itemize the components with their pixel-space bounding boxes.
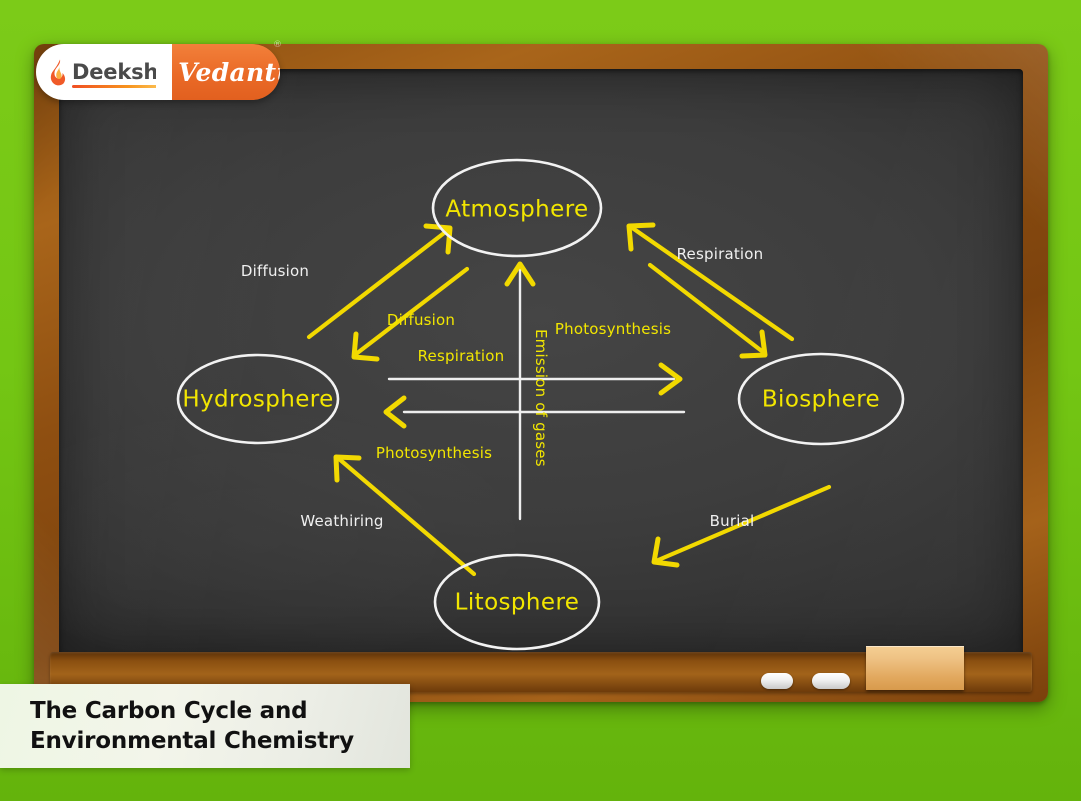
node-label-atmosphere: Atmosphere: [445, 197, 588, 223]
chalkboard-surface: Atmosphere Hydrosphere Biosphere Litosph…: [59, 69, 1023, 656]
edge-label-diffusion-outer: Diffusion: [241, 262, 309, 280]
edge-label-burial: Burial: [710, 512, 755, 530]
deeksha-label: Deeksha: [72, 60, 172, 84]
edge-label-photosynthesis-lower-left: Photosynthesis: [376, 444, 492, 462]
deeksha-wordmark: Deeksha: [72, 62, 172, 83]
screenshot-root: Atmosphere Hydrosphere Biosphere Litosph…: [0, 0, 1081, 801]
edge-label-weathiring: Weathiring: [300, 512, 383, 530]
board-eraser[interactable]: [866, 646, 964, 690]
carbon-cycle-diagram: Atmosphere Hydrosphere Biosphere Litosph…: [59, 69, 1023, 656]
edge-litosphere-to-atmosphere: [507, 264, 533, 519]
registered-mark: ®: [273, 40, 282, 50]
flame-icon: [50, 59, 67, 86]
chalkboard-frame: Atmosphere Hydrosphere Biosphere Litosph…: [34, 44, 1048, 702]
deeksha-underline: [72, 85, 174, 88]
edge-label-photosynthesis-upper-right: Photosynthesis: [555, 320, 671, 338]
edge-label-diffusion-inner: Diffusion: [387, 311, 455, 329]
vedantu-logo: Vedantu: [172, 44, 280, 100]
vedantu-label: Vedantu: [178, 58, 280, 87]
brand-logo[interactable]: Deeksha Vedantu: [36, 44, 280, 100]
node-label-biosphere: Biosphere: [762, 387, 880, 413]
node-label-litosphere: Litosphere: [455, 590, 580, 616]
title-banner: The Carbon Cycle and Environmental Chemi…: [0, 684, 410, 768]
node-label-hydrosphere: Hydrosphere: [182, 387, 333, 413]
title-line-1: The Carbon Cycle and: [30, 696, 410, 726]
edge-label-respiration-upper-right: Respiration: [677, 245, 764, 263]
edge-label-emission-of-gases: Emission of gases: [532, 329, 550, 467]
chalk-stick-2[interactable]: [812, 673, 850, 689]
deeksha-logo: Deeksha: [36, 44, 172, 100]
edge-label-respiration-center: Respiration: [418, 347, 505, 365]
title-line-2: Environmental Chemistry: [30, 726, 410, 756]
chalk-stick-1[interactable]: [761, 673, 793, 689]
